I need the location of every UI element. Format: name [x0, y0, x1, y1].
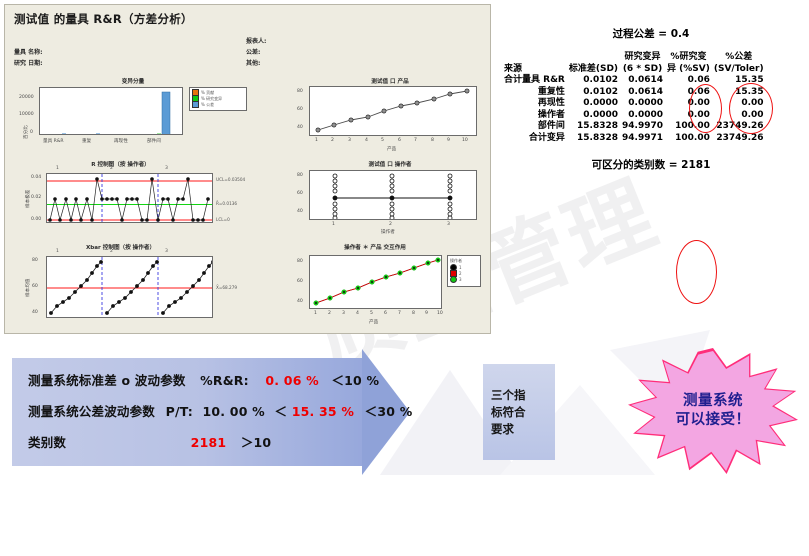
banner-line-1: 测量系统标准差 o 波动参数 %R&R: 0. 06 % ＜10 %: [28, 370, 379, 389]
x-tick-1: 1: [315, 138, 318, 143]
row-pct-sv: 100.00: [665, 133, 712, 145]
legend-marker-operator-3: [450, 276, 457, 283]
label-study-date: 研究 日期:: [14, 58, 43, 67]
x-tick-3: 3: [447, 222, 450, 227]
row-sv: 0.0000: [620, 110, 665, 122]
chart-measurement-by-part: 测试值 口 产品 80 60 40 1 2: [295, 77, 485, 157]
chart-title: R 控制图（按 操作者）: [13, 160, 228, 168]
chart-title: 测试值 口 操作者: [295, 160, 485, 168]
center-label: X̄=68.279: [216, 285, 237, 290]
banner-line-2: 测量系统公差波动参数 P/T: 10. 00 % ＜ 15. 35 % ＜30 …: [28, 401, 412, 420]
chart-title: Xbar 控制图（按 操作者）: [13, 243, 228, 251]
banner-line-2-lower: 10. 00 %: [203, 404, 265, 419]
banner-line-2-criterion: ＜30 %: [365, 404, 413, 419]
y-tick-2: 80: [297, 259, 303, 264]
row-source: 部件间: [502, 121, 567, 133]
row-pct-sv: 0.00: [665, 98, 712, 110]
plot-area: [46, 173, 213, 223]
y-tick-2: 0.04: [31, 175, 41, 180]
ucl-label: UCL=0.03504: [216, 177, 245, 182]
x-axis-label: 产品: [369, 319, 378, 325]
legend-item: % 研究变异: [192, 96, 244, 101]
y-axis-label: 百分比: [23, 125, 29, 139]
y-tick-2: 20000: [19, 95, 34, 100]
row-pct-sv: 100.00: [665, 121, 712, 133]
row-source: 再现性: [502, 98, 567, 110]
chart-title: 操作者 ＊ 产品 交互作用: [295, 243, 455, 251]
row-sd: 0.0000: [567, 110, 620, 122]
row-sv: 0.0614: [620, 75, 665, 87]
x-tick-1: 1: [332, 222, 335, 227]
table-row: 合计变异 15.8328 94.9971 100.00 23749.26: [502, 133, 766, 145]
x-tick-5: 5: [370, 311, 373, 316]
group-label-2: 2: [110, 249, 113, 254]
x-tick-2: 2: [328, 311, 331, 316]
x-tick-2: 2: [389, 222, 392, 227]
x-tick-2: 2: [331, 138, 334, 143]
table-row: 操作者 0.0000 0.0000 0.00 0.00: [502, 110, 766, 122]
x-tick-7: 7: [398, 311, 401, 316]
x-tick-9: 9: [425, 311, 428, 316]
table-row: 重复性 0.0102 0.0614 0.06 15.35: [502, 87, 766, 99]
y-tick-0: 40: [297, 209, 303, 214]
gage-rr-statistics: 过程公差 = 0.4 研究变异 %研究变 %公差 来源 标准差(SD) (6 *…: [496, 26, 806, 172]
legend-label: % 公差: [201, 102, 214, 108]
y-tick-0: 40: [297, 125, 303, 130]
y-tick-2: 80: [32, 258, 38, 263]
conclusion-line-2: 标符合: [491, 404, 555, 421]
x-tick-4: 4: [365, 138, 368, 143]
y-tick-0: 40: [32, 310, 38, 315]
legend-swatch-tolerance: [192, 101, 199, 108]
label-gage-name: 量具 名称:: [14, 47, 43, 56]
x-tick-10: 10: [437, 311, 443, 316]
verdict-line-2: 可以接受！: [676, 411, 751, 430]
row-source: 合计变异: [502, 133, 567, 145]
col-study-var: 研究变异: [620, 52, 665, 64]
row-sv: 0.0000: [620, 98, 665, 110]
group-label-3: 3: [165, 166, 168, 171]
row-pct-tol: 23749.26: [712, 133, 766, 145]
y-tick-1: 0.02: [31, 195, 41, 200]
x-tick-6: 6: [384, 311, 387, 316]
banner-line-2-value: 15. 35 %: [292, 404, 354, 419]
banner-line-1-value: 0. 06 %: [265, 373, 318, 388]
row-sv: 0.0614: [620, 87, 665, 99]
label-reported-by: 报表人:: [246, 36, 266, 45]
chart-xbar-control-by-operator: Xbar 控制图（按 操作者） 样本均值 80 60 40 1 2 3: [13, 243, 293, 331]
row-sd: 15.8328: [567, 133, 620, 145]
plot-area: [309, 86, 477, 136]
table-row: 再现性 0.0000 0.0000 0.00 0.00: [502, 98, 766, 110]
row-pct-tol: 15.35: [712, 87, 766, 99]
y-tick-1: 10000: [19, 112, 34, 117]
y-tick-1: 60: [297, 279, 303, 284]
banner-line-3-value: 2181: [191, 435, 227, 450]
chart-legend: % 贡献 % 研究变异 % 公差: [189, 87, 247, 111]
banner-line-3-label: 类别数: [28, 435, 66, 450]
row-sv: 94.9970: [620, 121, 665, 133]
chart-operator-part-interaction: 操作者 ＊ 产品 交互作用 80 60 40: [295, 243, 490, 331]
row-pct-tol: 15.35: [712, 75, 766, 87]
highlight-ellipse-empty: [676, 240, 717, 304]
col-pct-tolerance: %公差: [712, 52, 766, 64]
chart-title: 变异分量: [13, 77, 253, 85]
col-study-var-sub: (6 * SD): [620, 64, 665, 76]
x-tick-3: 3: [348, 138, 351, 143]
x-tick-6: 6: [398, 138, 401, 143]
plot-area: [309, 170, 477, 220]
x-tick-0: 量具 R&R: [43, 138, 64, 144]
gage-rr-report-panel: 测试值 的量具 R&R（方差分析） 量具 名称: 研究 日期: 报表人: 公差:…: [4, 4, 491, 334]
x-tick-8: 8: [431, 138, 434, 143]
conclusion-line-3: 要求: [491, 421, 555, 438]
banner-line-1-criterion: ＜10 %: [331, 373, 379, 388]
row-sd: 0.0000: [567, 98, 620, 110]
chart-r-control-by-operator: R 控制图（按 操作者） 样本极差 0.04 0.02 0.00 1 2 3: [13, 160, 293, 238]
y-tick-1: 60: [297, 107, 303, 112]
banner-line-2-label: 测量系统公差波动参数: [28, 404, 155, 419]
banner-line-3: 类别数 2181 ＞10: [28, 432, 271, 451]
legend-label: 1: [459, 265, 462, 270]
row-sd: 0.0102: [567, 87, 620, 99]
col-pct-study-var-sub: 异 (%SV): [665, 64, 712, 76]
legend-label: 3: [459, 277, 462, 282]
label-misc: 其他:: [246, 58, 260, 67]
chart-title: 测试值 口 产品: [295, 77, 485, 85]
legend-item: % 贡献: [192, 90, 244, 95]
summary-arrow-banner: 测量系统标准差 o 波动参数 %R&R: 0. 06 % ＜10 % 测量系统公…: [12, 358, 362, 466]
plot-area: [309, 255, 442, 309]
conclusion-box: 三个指 标符合 要求: [483, 364, 555, 460]
y-tick-1: 60: [32, 284, 38, 289]
x-tick-5: 5: [381, 138, 384, 143]
col-sd: 标准差(SD): [567, 64, 620, 76]
col-source: 来源: [502, 64, 567, 76]
plot-area: [39, 87, 183, 135]
y-tick-2: 80: [297, 173, 303, 178]
banner-line-2-metric: P/T:: [166, 404, 193, 419]
row-pct-tol: 23749.26: [712, 121, 766, 133]
row-pct-sv: 0.06: [665, 75, 712, 87]
col-pct-tolerance-sub: (SV/Toler): [712, 64, 766, 76]
banner-line-1-label: 测量系统标准差 o 波动参数: [28, 373, 186, 388]
y-tick-1: 60: [297, 191, 303, 196]
row-sd: 15.8328: [567, 121, 620, 133]
row-source: 合计量具 R&R: [502, 75, 567, 87]
verdict-starburst: 测量系统 可以接受！: [628, 348, 798, 474]
row-source: 重复性: [502, 87, 567, 99]
y-tick-0: 0: [30, 130, 33, 135]
banner-line-1-metric: %R&R:: [200, 373, 249, 388]
label-tolerance: 公差:: [246, 47, 260, 56]
row-source: 操作者: [502, 110, 567, 122]
x-tick-1: 1: [314, 311, 317, 316]
legend-label: 2: [459, 271, 462, 276]
number-of-distinct-categories: 可区分的类别数 = 2181: [496, 157, 806, 172]
x-tick-7: 7: [414, 138, 417, 143]
verdict-line-1: 测量系统: [683, 392, 743, 411]
lcl-label: LCL=0: [216, 217, 230, 222]
chart-measurement-by-operator: 测试值 口 操作者 80 60 40: [295, 160, 485, 238]
table-header-row-1: 研究变异 %研究变 %公差: [502, 52, 766, 64]
group-label-3: 3: [165, 249, 168, 254]
row-pct-tol: 0.00: [712, 98, 766, 110]
process-tolerance: 过程公差 = 0.4: [496, 26, 806, 41]
x-tick-10: 10: [462, 138, 468, 143]
x-axis-label: 产品: [387, 146, 396, 152]
group-label-2: 2: [110, 166, 113, 171]
banner-line-2-lt: ＜: [274, 404, 287, 419]
group-label-1: 1: [56, 166, 59, 171]
table-row: 合计量具 R&R 0.0102 0.0614 0.06 15.35: [502, 75, 766, 87]
chart-legend: 操作者 1 2 3: [447, 255, 481, 287]
report-title: 测试值 的量具 R&R（方差分析）: [14, 11, 193, 27]
y-tick-2: 80: [297, 89, 303, 94]
x-tick-3: 部件间: [147, 138, 161, 144]
row-pct-sv: 0.00: [665, 110, 712, 122]
row-sv: 94.9971: [620, 133, 665, 145]
row-pct-tol: 0.00: [712, 110, 766, 122]
x-tick-4: 4: [356, 311, 359, 316]
x-tick-2: 再现性: [114, 138, 128, 144]
col-pct-study-var: %研究变: [665, 52, 712, 64]
row-sd: 0.0102: [567, 75, 620, 87]
conclusion-line-1: 三个指: [491, 387, 555, 404]
x-tick-9: 9: [447, 138, 450, 143]
x-tick-1: 重复: [82, 138, 91, 144]
table-row: 部件间 15.8328 94.9970 100.00 23749.26: [502, 121, 766, 133]
table-header-row-2: 来源 标准差(SD) (6 * SD) 异 (%SV) (SV/Toler): [502, 64, 766, 76]
banner-line-3-criterion: ＞10: [241, 435, 272, 450]
row-pct-sv: 0.06: [665, 87, 712, 99]
plot-area: [46, 256, 213, 318]
legend-item: 3: [450, 277, 478, 282]
x-tick-3: 3: [342, 311, 345, 316]
chart-components-of-variation: 变异分量 百分比 0 10000 20000: [13, 77, 253, 157]
y-tick-0: 40: [297, 299, 303, 304]
variance-components-table: 研究变异 %研究变 %公差 来源 标准差(SD) (6 * SD) 异 (%SV…: [502, 52, 766, 144]
x-axis-label: 操作者: [381, 229, 395, 235]
y-axis-label: 样本均值: [25, 279, 31, 297]
y-tick-0: 0.00: [31, 217, 41, 222]
starburst-text: 测量系统 可以接受！: [628, 348, 798, 474]
x-tick-8: 8: [412, 311, 415, 316]
center-label: R̄=0.0136: [216, 201, 237, 206]
group-label-1: 1: [56, 249, 59, 254]
legend-item: % 公差: [192, 102, 244, 107]
